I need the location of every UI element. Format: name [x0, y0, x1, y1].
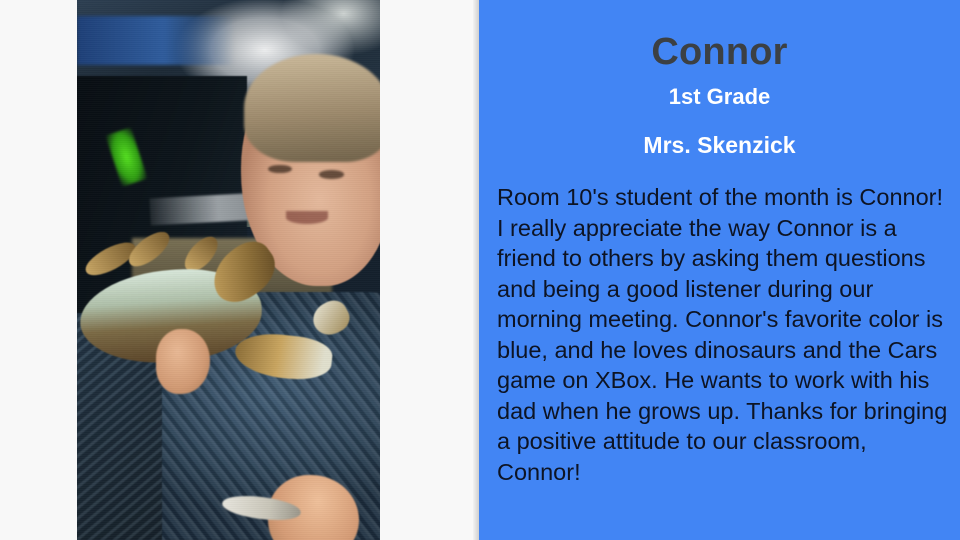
photo-boy-smile — [286, 211, 328, 224]
info-panel: Connor 1st Grade Mrs. Skenzick Room 10's… — [479, 0, 960, 540]
teacher-name: Mrs. Skenzick — [479, 132, 960, 160]
student-bio: Room 10's student of the month is Connor… — [497, 182, 949, 487]
photo-boat-blue-band — [77, 16, 235, 65]
student-name: Connor — [479, 32, 960, 74]
photo-pane — [0, 0, 479, 540]
photo-boy-right-eye — [319, 170, 343, 179]
student-grade: 1st Grade — [479, 84, 960, 110]
photo-boy-hair — [244, 54, 380, 162]
slide-canvas: Connor 1st Grade Mrs. Skenzick Room 10's… — [0, 0, 960, 540]
student-photo — [77, 0, 380, 540]
